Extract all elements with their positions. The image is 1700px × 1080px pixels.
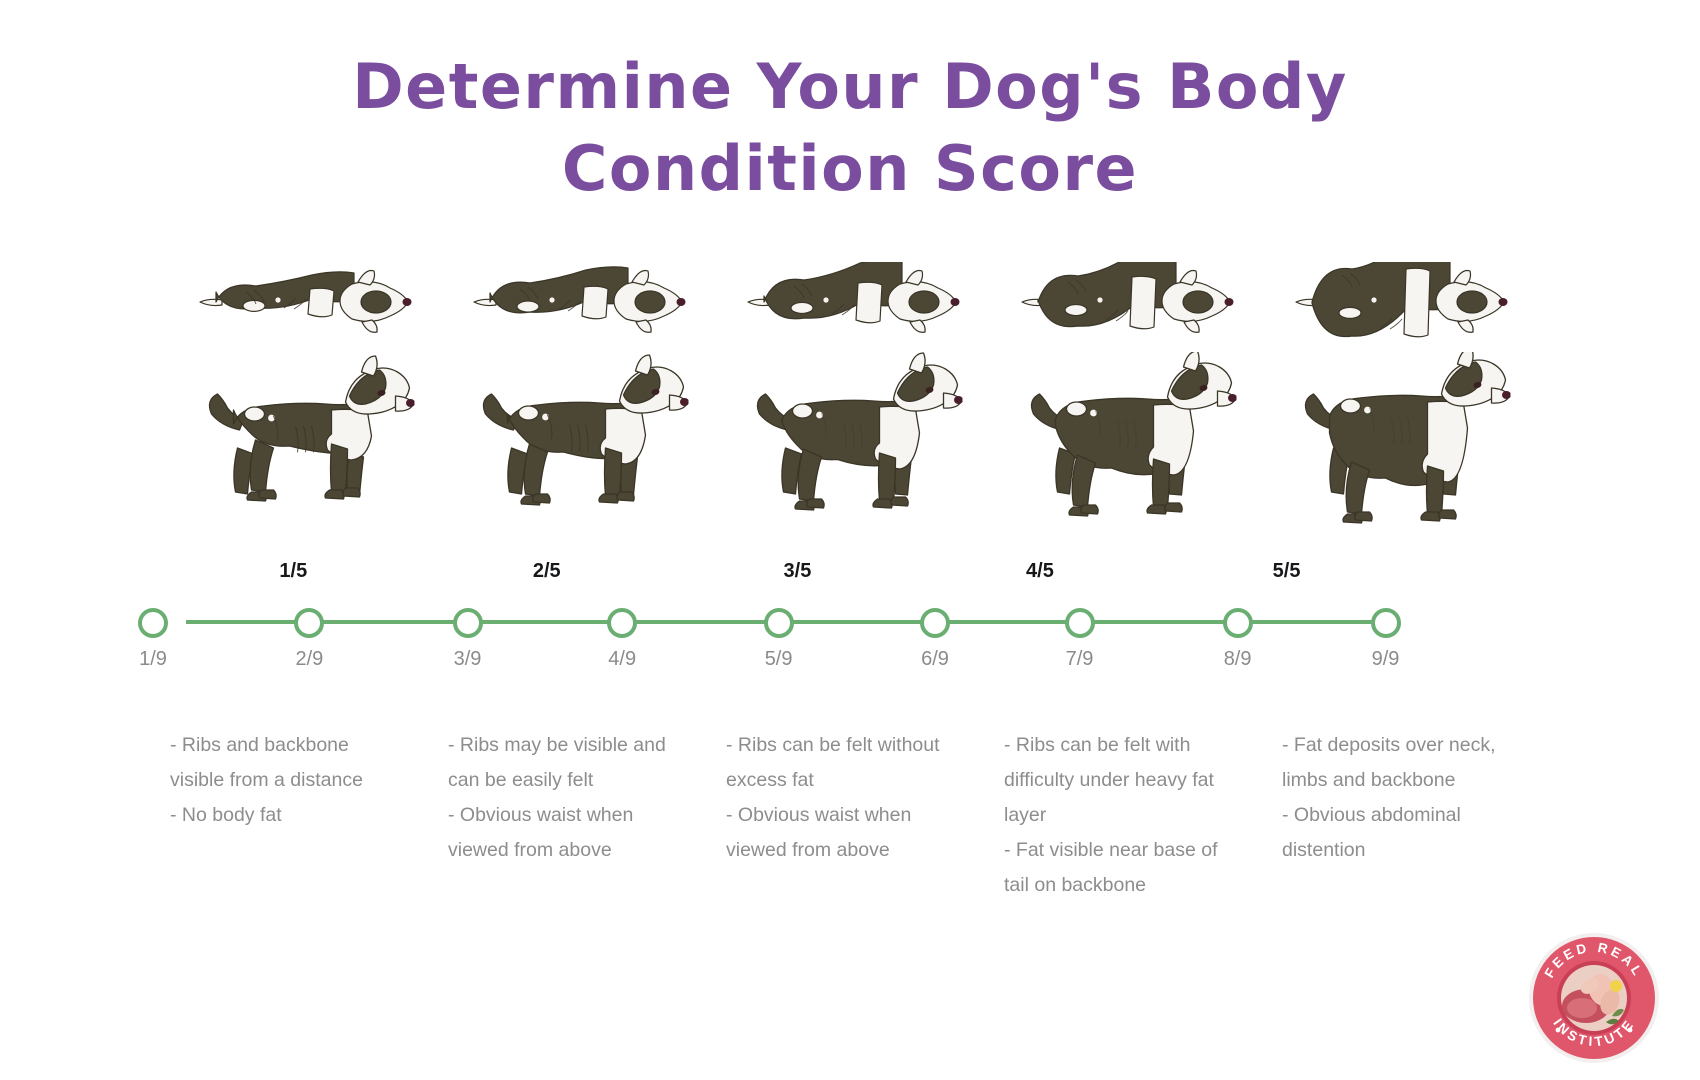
dog-score-3-top-view-icon (740, 262, 970, 342)
description-row: - Ribs and backbonevisible from a distan… (170, 728, 1560, 903)
dog-score-5-side-view-icon (1296, 352, 1511, 527)
dog-score-3-side-view-icon (748, 352, 963, 527)
description-line: visible from a distance (170, 763, 412, 798)
scale-node-8[interactable] (1223, 608, 1253, 638)
scale-node-4[interactable] (607, 608, 637, 638)
description-column-2: - Ribs may be visible andcan be easily f… (448, 728, 726, 903)
description-line: - Ribs and backbone (170, 728, 412, 763)
page-title: Determine Your Dog's Body Condition Scor… (0, 46, 1700, 210)
description-line: - Ribs can be felt with (1004, 728, 1246, 763)
description-line: excess fat (726, 763, 968, 798)
description-column-5: - Fat deposits over neck,limbs and backb… (1282, 728, 1560, 903)
description-line: viewed from above (726, 833, 968, 868)
five-point-label-5: 5/5 (1273, 560, 1301, 583)
dog-score-5-top-view-icon (1288, 262, 1518, 342)
scale-node-1[interactable] (138, 608, 168, 638)
nine-point-label-1: 1/9 (139, 648, 167, 671)
dog-score-2-side-view-icon (474, 352, 689, 527)
description-line: distention (1282, 833, 1524, 868)
dog-score-1 (170, 262, 444, 552)
description-line: - Fat visible near base of (1004, 833, 1246, 868)
dog-score-1-side-view-icon (200, 352, 415, 527)
description-line: - Obvious waist when (448, 798, 690, 833)
scale-node-2[interactable] (294, 608, 324, 638)
description-line: - Ribs can be felt without (726, 728, 968, 763)
nine-point-label-4: 4/9 (608, 648, 636, 671)
dog-score-4 (992, 262, 1266, 552)
dog-score-5 (1266, 262, 1540, 552)
description-line: difficulty under heavy fat (1004, 763, 1246, 798)
description-line: layer (1004, 798, 1246, 833)
infographic-poster: Determine Your Dog's Body Condition Scor… (0, 0, 1700, 1080)
five-point-label-4: 4/5 (1026, 560, 1054, 583)
description-line: - Fat deposits over neck, (1282, 728, 1524, 763)
nine-point-label-8: 8/9 (1224, 648, 1252, 671)
nine-point-label-3: 3/9 (454, 648, 482, 671)
description-column-1: - Ribs and backbonevisible from a distan… (170, 728, 448, 903)
five-point-label-2: 2/5 (533, 560, 561, 583)
scale-node-3[interactable] (453, 608, 483, 638)
scale-node-5[interactable] (764, 608, 794, 638)
title-line-2: Condition Score (0, 128, 1700, 210)
dog-score-4-top-view-icon (1014, 262, 1244, 342)
scale-node-9[interactable] (1371, 608, 1401, 638)
description-line: limbs and backbone (1282, 763, 1524, 798)
description-column-4: - Ribs can be felt withdifficulty under … (1004, 728, 1282, 903)
nine-point-label-9: 9/9 (1372, 648, 1400, 671)
title-line-1: Determine Your Dog's Body (0, 46, 1700, 128)
nine-point-label-7: 7/9 (1066, 648, 1094, 671)
dog-illustration-row (170, 262, 1540, 552)
dog-score-3 (718, 262, 992, 552)
scale-node-6[interactable] (920, 608, 950, 638)
description-line: - Obvious waist when (726, 798, 968, 833)
description-line: tail on backbone (1004, 868, 1246, 903)
description-line: can be easily felt (448, 763, 690, 798)
dog-score-2-top-view-icon (466, 262, 696, 342)
five-point-label-3: 3/5 (784, 560, 812, 583)
dog-score-4-side-view-icon (1022, 352, 1237, 527)
scale-node-7[interactable] (1065, 608, 1095, 638)
description-column-3: - Ribs can be felt withoutexcess fat- Ob… (726, 728, 1004, 903)
nine-point-label-6: 6/9 (921, 648, 949, 671)
description-line: - Obvious abdominal (1282, 798, 1524, 833)
five-point-labels: 1/52/53/54/55/5 (170, 560, 1540, 590)
feed-real-institute-logo: FEED REAL INSTITUTE (1528, 932, 1660, 1064)
description-line: - No body fat (170, 798, 412, 833)
dog-score-2 (444, 262, 718, 552)
logo-star-right (1628, 1028, 1633, 1033)
description-line: viewed from above (448, 833, 690, 868)
nine-point-label-5: 5/9 (765, 648, 793, 671)
logo-star-left (1556, 1028, 1561, 1033)
description-line: - Ribs may be visible and (448, 728, 690, 763)
nine-point-label-2: 2/9 (295, 648, 323, 671)
body-condition-scale: 1/52/53/54/55/5 1/92/93/94/95/96/97/98/9… (0, 560, 1700, 690)
dog-score-1-top-view-icon (192, 262, 422, 342)
five-point-label-1: 1/5 (279, 560, 307, 583)
